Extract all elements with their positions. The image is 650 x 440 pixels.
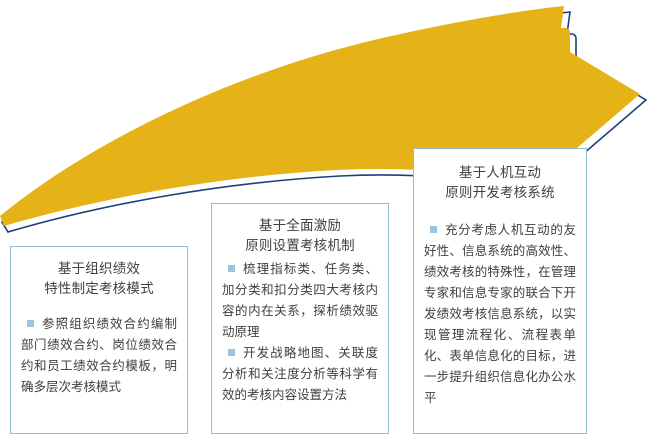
square-bullet-icon bbox=[228, 349, 235, 356]
list-item: 梳理指标类、任务类、加分类和扣分类四大考核内容的内在关系，探析绩效驱动原理 bbox=[222, 258, 378, 342]
card-title: 基于组织绩效 特性制定考核模式 bbox=[21, 259, 177, 299]
slide-canvas: 基于组织绩效 特性制定考核模式 参照组织绩效合约编制部门绩效合约、岗位绩效合约和… bbox=[0, 0, 650, 440]
bullet-list: 梳理指标类、任务类、加分类和扣分类四大考核内容的内在关系，探析绩效驱动原理 开发… bbox=[222, 258, 378, 405]
card-incentive-mechanism[interactable]: 基于全面激励 原则设置考核机制 梳理指标类、任务类、加分类和扣分类四大考核内容的… bbox=[211, 203, 389, 434]
bullet-text: 参照组织绩效合约编制部门绩效合约、岗位绩效合约和员工绩效合约模板，明确多层次考核… bbox=[21, 316, 177, 394]
bullet-list: 充分考虑人机互动的友好性、信息系统的高效性、绩效考核的特殊性，在管理专家和信息专… bbox=[424, 219, 576, 408]
square-bullet-icon bbox=[228, 265, 235, 272]
list-item: 充分考虑人机互动的友好性、信息系统的高效性、绩效考核的特殊性，在管理专家和信息专… bbox=[424, 219, 576, 408]
list-item: 开发战略地图、关联度分析和关注度分析等科学有效的考核内容设置方法 bbox=[222, 342, 378, 405]
bullet-text: 开发战略地图、关联度分析和关注度分析等科学有效的考核内容设置方法 bbox=[222, 345, 378, 402]
square-bullet-icon bbox=[27, 320, 34, 327]
card-content: 基于组织绩效 特性制定考核模式 参照组织绩效合约编制部门绩效合约、岗位绩效合约和… bbox=[11, 247, 187, 405]
card-content: 基于人机互动 原则开发考核系统 充分考虑人机互动的友好性、信息系统的高效性、绩效… bbox=[414, 149, 586, 416]
card-human-machine-interaction[interactable]: 基于人机互动 原则开发考核系统 充分考虑人机互动的友好性、信息系统的高效性、绩效… bbox=[413, 148, 587, 434]
card-organizational-performance[interactable]: 基于组织绩效 特性制定考核模式 参照组织绩效合约编制部门绩效合约、岗位绩效合约和… bbox=[10, 246, 188, 434]
bullet-text: 梳理指标类、任务类、加分类和扣分类四大考核内容的内在关系，探析绩效驱动原理 bbox=[222, 261, 378, 339]
bullet-list: 参照组织绩效合约编制部门绩效合约、岗位绩效合约和员工绩效合约模板，明确多层次考核… bbox=[21, 313, 177, 397]
square-bullet-icon bbox=[430, 226, 437, 233]
card-title: 基于全面激励 原则设置考核机制 bbox=[222, 216, 378, 256]
list-item: 参照组织绩效合约编制部门绩效合约、岗位绩效合约和员工绩效合约模板，明确多层次考核… bbox=[21, 313, 177, 397]
card-content: 基于全面激励 原则设置考核机制 梳理指标类、任务类、加分类和扣分类四大考核内容的… bbox=[212, 204, 388, 413]
bullet-text: 充分考虑人机互动的友好性、信息系统的高效性、绩效考核的特殊性，在管理专家和信息专… bbox=[424, 222, 576, 405]
card-title: 基于人机互动 原则开发考核系统 bbox=[424, 163, 576, 203]
